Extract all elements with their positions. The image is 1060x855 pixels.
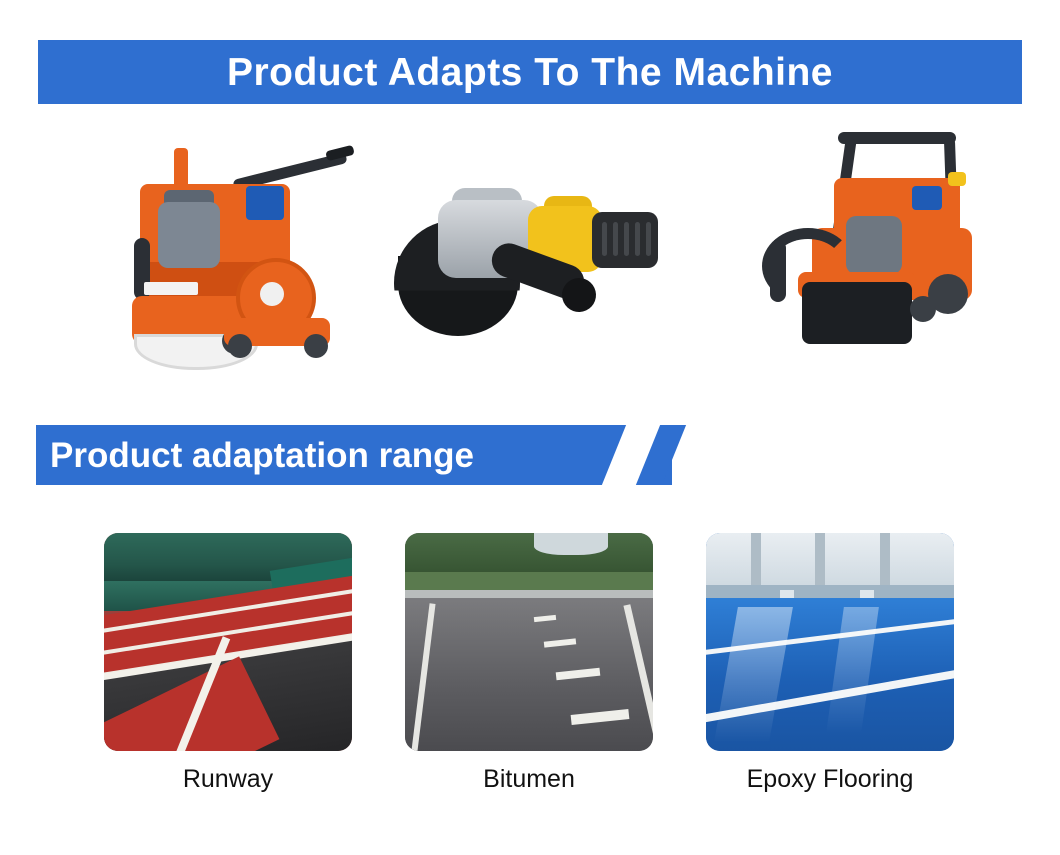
epoxy-ceiling (706, 533, 954, 590)
grinder-control-panel (246, 186, 284, 220)
grinder-label-sticker (144, 282, 198, 295)
application-label-bitumen: Bitumen (483, 767, 575, 792)
dust-vacuum-illustration (224, 252, 344, 364)
walk-grinder-neck (770, 240, 786, 302)
road-sky-gap (534, 533, 608, 555)
asphalt-road-photo (405, 533, 653, 751)
section-heading: Product adaptation range (36, 438, 474, 473)
epoxy-ceiling-beam (880, 533, 890, 590)
walk-behind-grinder-illustration (742, 132, 992, 392)
blue-epoxy-floor-photo (706, 533, 954, 751)
vacuum-wheel-left (228, 334, 252, 358)
machine-image-walk-behind-floor-grinder (694, 122, 1022, 402)
red-running-track-photo (104, 533, 352, 751)
application-card-bitumen: Bitumen (405, 533, 653, 823)
section-heading-band: Product adaptation range (36, 425, 672, 485)
title-banner: Product Adapts To The Machine (38, 40, 1022, 104)
grinder-motor (158, 202, 220, 268)
angle-grinder-vent (602, 222, 607, 256)
epoxy-ceiling-beam (751, 533, 761, 590)
angle-grinder-vent (613, 222, 618, 256)
application-label-runway: Runway (183, 767, 273, 792)
road-asphalt-surface (405, 598, 653, 751)
angle-grinder-illustration (394, 178, 674, 358)
machine-image-row (38, 122, 1022, 402)
application-card-row: Runway Bitumen (104, 533, 954, 823)
application-card-epoxy-flooring: Epoxy Flooring (706, 533, 954, 823)
vacuum-hub (260, 282, 284, 306)
epoxy-ceiling-beam (815, 533, 825, 590)
bitumen-thumbnail (405, 533, 653, 751)
angle-grinder-vent (624, 222, 629, 256)
walk-grinder-dust-tank (802, 282, 912, 344)
runway-thumbnail (104, 533, 352, 751)
angle-grinder-vent (635, 222, 640, 256)
walk-grinder-motor (846, 216, 902, 274)
page-title: Product Adapts To The Machine (227, 53, 833, 92)
walk-grinder-indicator-light (948, 172, 966, 186)
application-card-runway: Runway (104, 533, 352, 823)
machine-image-angle-grinder (366, 122, 694, 402)
epoxy-flooring-thumbnail (706, 533, 954, 751)
application-label-epoxy-flooring: Epoxy Flooring (747, 767, 914, 792)
walk-grinder-wheel-front (910, 296, 936, 322)
angle-grinder-vent (646, 222, 651, 256)
machine-image-floor-grinder-with-vacuum (38, 122, 366, 402)
vacuum-wheel-right (304, 334, 328, 358)
walk-grinder-control-panel (912, 186, 942, 210)
